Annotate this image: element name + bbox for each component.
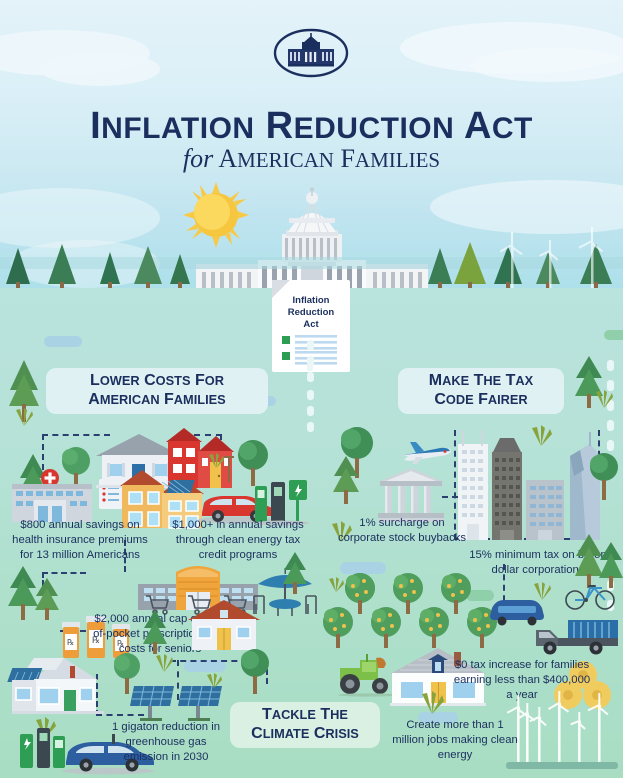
subtitle-rest: AMERICAN FAMILIES — [218, 144, 440, 173]
bank-icon — [378, 468, 444, 522]
grass-tuft-icon — [206, 452, 226, 468]
round-tree-icon — [238, 648, 272, 694]
page-title-text: INFLATION REDUCTION ACT — [90, 105, 533, 147]
path-dot — [607, 360, 614, 371]
section-heading-climate: TACKLE THE CLIMATE CRISIS — [230, 702, 380, 748]
decor-blob — [44, 336, 82, 347]
grass-tuft-icon — [418, 690, 446, 714]
orchard-tree-icon — [344, 572, 512, 652]
svg-text:℞: ℞ — [67, 638, 74, 647]
grass-tuft-icon — [528, 424, 554, 446]
path-dot — [307, 372, 314, 382]
cloud-decoration — [40, 52, 160, 86]
house-icon — [188, 600, 260, 650]
solar-panel-icon — [130, 682, 224, 724]
decor-blob — [604, 330, 623, 340]
infographic-poster: INFLATION REDUCTION ACT for AMERICAN FAM… — [0, 0, 623, 778]
grass-tuft-icon — [204, 672, 224, 688]
grass-tuft-icon — [326, 576, 346, 592]
solar-house-icon — [12, 658, 104, 714]
doc-line-1: Inflation — [266, 295, 356, 307]
ira-document-label: Inflation Reduction Act — [266, 295, 356, 331]
white-house-seal-icon — [272, 27, 350, 79]
path-dot — [307, 406, 314, 416]
pine-tree-icon — [34, 578, 60, 622]
round-tree-icon — [112, 652, 142, 694]
heading-line-2: CODE FAIRER — [429, 391, 533, 410]
grass-tuft-icon — [12, 406, 36, 426]
pine-tree-icon — [282, 552, 308, 596]
path-dot — [307, 390, 314, 400]
bicycle-icon — [564, 580, 616, 610]
wind-turbine-icon — [495, 232, 623, 292]
cloud-decoration — [470, 48, 623, 82]
subtitle-italic: for — [183, 144, 213, 173]
pine-tree-icon — [142, 610, 168, 656]
page-title: INFLATION REDUCTION ACT — [0, 105, 623, 148]
path-dot — [307, 356, 314, 366]
fact-caption-stock-buybacks: 1% surcharge on corporate stock buybacks — [336, 516, 468, 546]
hospital-icon — [12, 478, 92, 522]
heading-line-2: AMERICAN FAMILIES — [88, 391, 225, 410]
fact-caption-gigaton-reduction: 1 gigaton reduction in greenhouse gas em… — [104, 720, 228, 765]
round-tree-icon — [236, 438, 270, 486]
section-heading-lower-costs: LOWER COSTS FOR AMERICAN FAMILIES — [46, 368, 268, 414]
section-heading-tax-code: MAKE THE TAX CODE FAIRER — [398, 368, 564, 414]
pine-tree-icon — [332, 456, 360, 506]
fact-caption-clean-energy-jobs: Create more than 1 million jobs making c… — [390, 718, 520, 763]
airplane-icon — [398, 440, 452, 466]
delivery-truck-icon — [534, 616, 620, 656]
page-subtitle: for AMERICAN FAMILIES — [0, 144, 623, 174]
wind-turbine-icon — [506, 692, 623, 772]
heading-line-2: CLIMATE CRISIS — [251, 725, 359, 744]
grass-tuft-icon — [592, 388, 616, 408]
round-tree-icon — [588, 452, 620, 500]
heading-line-1: TACKLE THE — [251, 706, 359, 725]
fact-caption-health-insurance: $800 annual savings on health insurance … — [10, 518, 150, 563]
heading-line-1: MAKE THE TAX — [429, 372, 533, 391]
heading-line-1: LOWER COSTS FOR — [88, 372, 225, 391]
grass-tuft-icon — [530, 580, 554, 600]
path-dot — [307, 422, 314, 432]
doc-line-2: Reduction — [266, 307, 356, 319]
path-dot — [307, 340, 314, 350]
